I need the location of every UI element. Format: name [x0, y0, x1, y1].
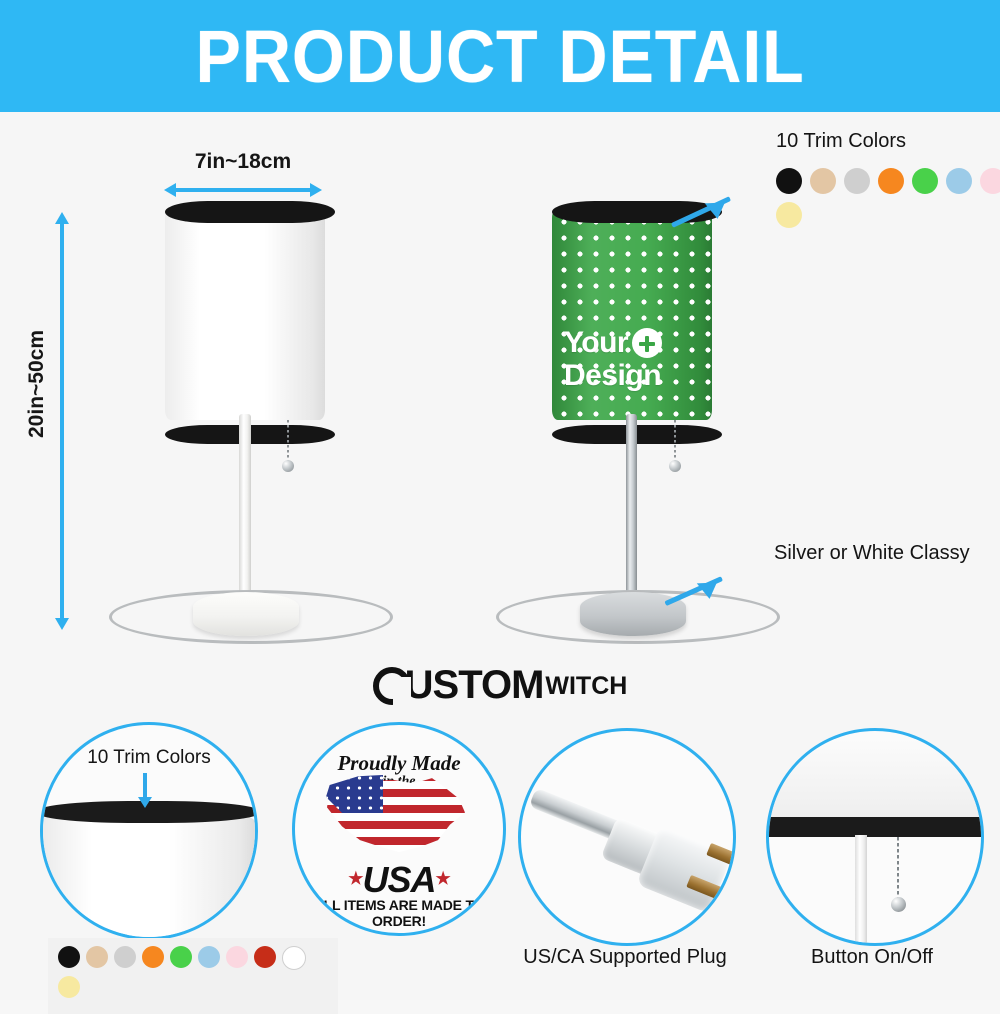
feature-button-on-off: Button On/Off [766, 728, 978, 940]
trim-colors-swatch-row-1 [776, 168, 1000, 196]
design-line-2: Design [564, 359, 661, 392]
prong-hole [717, 890, 726, 899]
base-finish-pointer-arrow [700, 554, 790, 602]
shade-trim-top [165, 201, 335, 223]
pull-chain[interactable] [897, 837, 899, 899]
star-right-icon: ★ [436, 869, 450, 888]
design-line-1: Your [564, 326, 628, 359]
swatch-yellow[interactable] [58, 976, 80, 998]
star-left-icon: ★ [348, 869, 362, 888]
shade-closeup [40, 817, 257, 940]
green-lamp-shade: Your Design [552, 208, 712, 420]
page-banner: PRODUCT DETAIL [0, 0, 1000, 112]
arrow-shaft [172, 188, 314, 192]
swatch-orange[interactable] [142, 946, 164, 968]
logo-custom-text: USTOM [405, 663, 544, 708]
swatch-green[interactable] [170, 946, 192, 968]
feature-plug: US/CA Supported Plug [518, 728, 730, 940]
bottom-swatch-row-1 [58, 946, 328, 970]
swatch-black[interactable] [58, 946, 80, 968]
feature-circle [518, 728, 736, 946]
swatch-light-gray[interactable] [844, 168, 870, 194]
width-dimension-label: 7in~18cm [164, 150, 322, 174]
trim-colors-title: 10 Trim Colors [776, 130, 906, 153]
height-dimension-label: 20in~50cm [25, 304, 49, 464]
lamp-pole [626, 414, 637, 604]
swatch-white[interactable] [282, 946, 306, 970]
swatch-tan[interactable] [810, 168, 836, 194]
bottom-trim-swatches [48, 938, 338, 1014]
white-lamp [165, 208, 335, 438]
plus-icon [632, 328, 662, 358]
swatch-light-blue[interactable] [198, 946, 220, 968]
feature-circle: 10 Trim Colors [40, 722, 258, 940]
pull-chain-ball[interactable] [282, 460, 294, 472]
your-design-artwork: Your Design [564, 326, 712, 392]
feature-trim-colors: 10 Trim Colors [40, 722, 252, 934]
green-lamp: Your Design [552, 208, 722, 438]
down-arrow-icon [143, 773, 147, 799]
feature-made-in-usa: Proudly Made in the ★USA★ ALL ITEMS ARE … [292, 722, 500, 930]
bottom-swatch-row-2 [58, 976, 328, 998]
swatch-tan[interactable] [86, 946, 108, 968]
logo-c-icon [373, 667, 411, 705]
lamp-pole [239, 414, 251, 604]
product-detail-page: PRODUCT DETAIL 7in~18cm 20in~50cm Your D… [0, 0, 1000, 1000]
lamp-base [193, 592, 299, 636]
feature-trim-colors-label: 10 Trim Colors [43, 747, 255, 769]
feature-circle [766, 728, 984, 946]
shade-trim-closeup [766, 817, 984, 837]
arrow-shaft [60, 220, 64, 622]
swatch-pink[interactable] [226, 946, 248, 968]
white-lamp-shade [165, 208, 325, 420]
pull-chain-ball[interactable] [669, 460, 681, 472]
base-finish-label: Silver or White Classy [774, 542, 970, 565]
height-dimension-arrow [55, 212, 69, 630]
brand-logo: USTOM WITCH [0, 663, 1000, 710]
usa-word-text: USA [362, 859, 435, 900]
shade-closeup [766, 739, 984, 821]
swatch-pink[interactable] [980, 168, 1000, 194]
pull-chain-ball[interactable] [891, 897, 906, 912]
usa-subtext: ALL ITEMS ARE MADE TO ORDER! [295, 897, 503, 929]
swatch-orange[interactable] [878, 168, 904, 194]
arrow-right-head [310, 183, 322, 197]
width-dimension-arrow [164, 183, 322, 197]
shade-trim-bottom [552, 425, 722, 444]
trim-colors-pointer-arrow [706, 176, 796, 220]
lamp-pole-closeup [855, 835, 867, 946]
swatch-light-blue[interactable] [946, 168, 972, 194]
swatch-light-gray[interactable] [114, 946, 136, 968]
feature-plug-caption: US/CA Supported Plug [500, 946, 750, 969]
arrow-down-head [55, 618, 69, 630]
feature-circle: Proudly Made in the ★USA★ ALL ITEMS ARE … [292, 722, 506, 936]
usa-top-line1: Proudly Made [337, 751, 460, 775]
logo-witch-text: WITCH [545, 673, 627, 699]
swatch-brick-red[interactable] [254, 946, 276, 968]
swatch-green[interactable] [912, 168, 938, 194]
page-title: PRODUCT DETAIL [195, 14, 804, 99]
usa-word: ★USA★ [295, 859, 503, 901]
feature-button-caption: Button On/Off [756, 946, 988, 969]
